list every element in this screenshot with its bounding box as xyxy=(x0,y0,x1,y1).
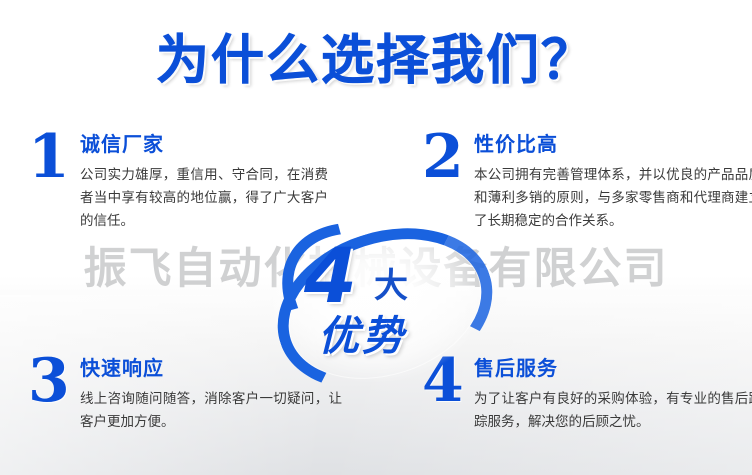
watermark-text: 振飞自动化捕械设备有限公司 xyxy=(0,234,752,296)
advantage-number-4: 4 xyxy=(422,352,464,410)
advantage-body-1: 诚信厂家 公司实力雄厚，重信用、守合同，在消费者当中享有较高的地位赢，得了广大客… xyxy=(80,128,328,233)
advantage-heading-1: 诚信厂家 xyxy=(80,128,328,157)
advantage-desc-3: 线上咨询随问随答，消除客户一切疑问，让客户更加方便。 xyxy=(80,388,342,434)
advantage-desc-1: 公司实力雄厚，重信用、守合同，在消费者当中享有较高的地位赢，得了广大客户的信任。 xyxy=(80,164,328,233)
advantage-body-3: 快速响应 线上咨询随问随答，消除客户一切疑问，让客户更加方便。 xyxy=(80,352,342,434)
advantage-desc-4: 为了让客户有良好的采购体验，有专业的售后跟踪服务，解决您的后顾之忧。 xyxy=(474,388,752,434)
center-badge: 4 大 优势 xyxy=(268,230,482,360)
advantage-number-1: 1 xyxy=(28,128,70,186)
advantage-heading-3: 快速响应 xyxy=(80,352,342,381)
advantage-body-2: 性价比高 本公司拥有完善管理体系，并以优良的产品品质和薄利多销的原则，与多家零售… xyxy=(474,128,752,233)
advantage-desc-2: 本公司拥有完善管理体系，并以优良的产品品质和薄利多销的原则，与多家零售商和代理商… xyxy=(474,164,752,233)
page-title: 为什么选择我们？ xyxy=(0,18,752,94)
advantage-heading-2: 性价比高 xyxy=(474,128,752,157)
advantage-number-2: 2 xyxy=(422,128,464,186)
badge-word: 大 xyxy=(374,258,408,307)
badge-number: 4 xyxy=(304,238,357,314)
advantage-heading-4: 售后服务 xyxy=(474,352,752,381)
promo-banner: 为什么选择我们？ 振飞自动化捕械设备有限公司 4 大 优势 1 诚信厂家 公司实… xyxy=(0,0,752,475)
advantage-number-3: 3 xyxy=(28,352,70,410)
advantage-body-4: 售后服务 为了让客户有良好的采购体验，有专业的售后跟踪服务，解决您的后顾之忧。 xyxy=(474,352,752,434)
